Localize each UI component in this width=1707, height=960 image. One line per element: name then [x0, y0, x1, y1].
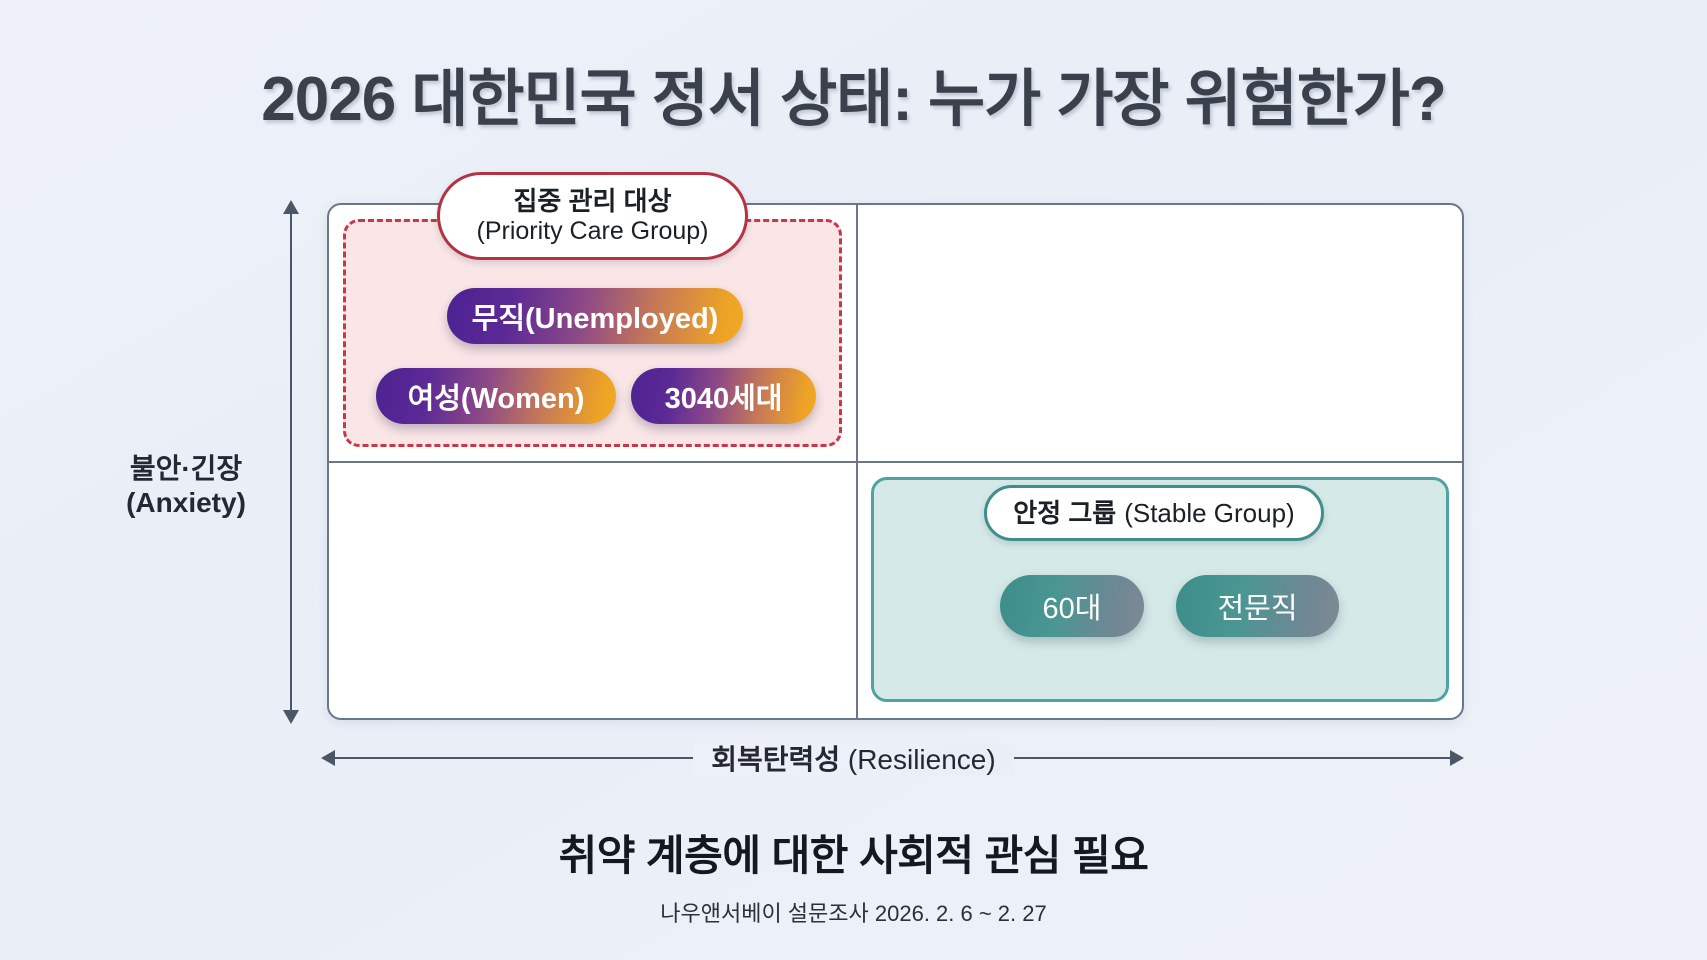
stable-group-badge: 안정 그룹 (Stable Group) [984, 485, 1324, 541]
priority-care-badge: 집중 관리 대상 (Priority Care Group) [437, 172, 748, 260]
matrix-vertical-divider [856, 205, 858, 718]
y-axis-label-en: (Anxiety) [96, 486, 276, 520]
pill-60s: 60대 [1000, 575, 1144, 637]
priority-care-badge-ko: 집중 관리 대상 [514, 186, 672, 217]
y-axis-line [290, 210, 292, 718]
conclusion-text: 취약 계층에 대한 사회적 관심 필요 [0, 822, 1707, 883]
pill-women: 여성(Women) [376, 368, 616, 424]
pill-unemployed: 무직(Unemployed) [447, 288, 743, 344]
pill-professional: 전문직 [1176, 575, 1339, 637]
y-axis-arrow-down-icon [283, 710, 299, 724]
source-text: 나우앤서베이 설문조사 2026. 2. 6 ~ 2. 27 [0, 896, 1707, 928]
priority-care-badge-en: (Priority Care Group) [477, 217, 709, 247]
y-axis-label-ko: 불안·긴장 [96, 452, 276, 486]
stable-group-badge-ko: 안정 그룹 [1013, 498, 1116, 529]
stable-group-badge-en: (Stable Group) [1124, 498, 1295, 529]
x-axis-label-ko: 회복탄력성 [711, 744, 840, 775]
quadrant-matrix [327, 203, 1464, 720]
pill-3040-generation: 3040세대 [631, 368, 816, 424]
x-axis-label-en: (Resilience) [848, 744, 996, 775]
y-axis [283, 200, 299, 718]
page-title: 2026 대한민국 정서 상태: 누가 가장 위험한가? [0, 48, 1707, 138]
matrix-horizontal-divider [329, 461, 1462, 463]
x-axis-label: 회복탄력성 (Resilience) [0, 738, 1707, 778]
y-axis-label: 불안·긴장 (Anxiety) [96, 452, 276, 520]
